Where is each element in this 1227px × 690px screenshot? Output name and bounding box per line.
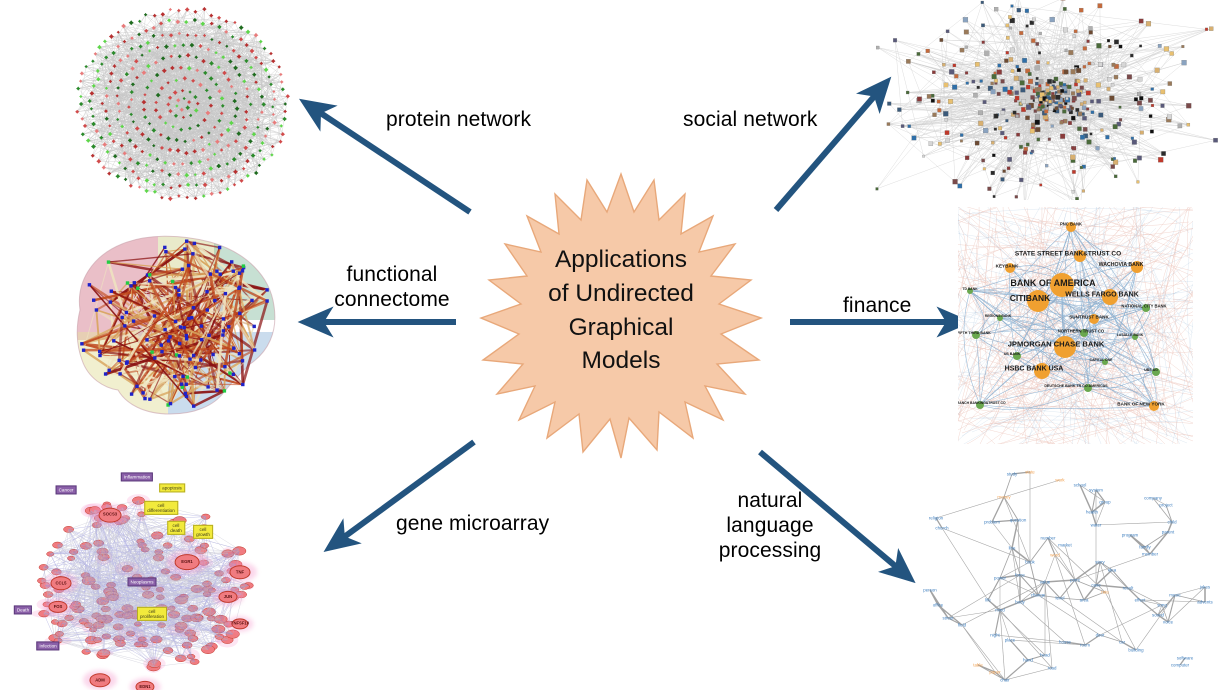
nlp-word-node: night	[990, 633, 1000, 638]
nlp-word-node: school	[1074, 483, 1087, 488]
finance-node-label: CITIBANK	[1010, 293, 1051, 303]
nlp-word-node: project	[1159, 503, 1172, 508]
nlp-word-node: study	[1007, 472, 1018, 477]
nlp-word-node: door	[1096, 633, 1105, 638]
nlp-word-node: road	[1048, 666, 1057, 671]
nlp-word-node: book	[1025, 560, 1035, 565]
finance-node-label: HSBC BANK USA	[1005, 366, 1064, 373]
finance-node-label: NATIONAL CITY BANK	[1121, 304, 1166, 309]
nlp-word-node: church	[935, 526, 948, 531]
nlp-word-node: number	[1041, 536, 1056, 541]
finance-node-label: TD BANK	[962, 287, 977, 291]
nlp-word-node: street	[943, 616, 954, 621]
diagram-canvas: Applications of Undirected Graphical Mod…	[0, 0, 1227, 690]
finance-node-label: KEYBANK	[996, 264, 1019, 269]
finance-node-label: DEUTSCHE BANK TR CO AMERICAS	[1044, 384, 1107, 388]
label-gene-microarray: gene microarray	[396, 512, 549, 537]
gene-node: EDN1	[135, 681, 154, 690]
nlp-word-node: building	[1128, 648, 1143, 653]
thumbnail-natural-language-processing: studystatemoneyworkschoolsystemhealthgro…	[900, 450, 1227, 690]
nlp-word-node: power	[994, 576, 1006, 581]
nlp-word-node: room	[1080, 643, 1090, 648]
nlp-word-node: money	[997, 495, 1010, 500]
nlp-word-node: family	[1139, 545, 1150, 550]
thumbnail-social-network	[862, 0, 1227, 200]
nlp-word-node: point	[1070, 578, 1080, 583]
thumbnail-functional-connectome	[18, 212, 313, 430]
nlp-word-node: paper	[989, 670, 1000, 675]
nlp-word-node: force	[1015, 573, 1025, 578]
finance-node-label: JPMORGAN CHASE BANK	[1008, 340, 1105, 349]
finance-node-label: CAPITAL ONE	[1090, 358, 1113, 362]
nlp-word-node: question	[1010, 518, 1027, 523]
thumbnail-protein-network	[58, 0, 308, 208]
nlp-word-node: person	[923, 588, 936, 593]
label-social-network: social network	[683, 108, 817, 133]
nlp-word-node: field	[958, 623, 966, 628]
nlp-word-node: voice	[1163, 620, 1173, 625]
nlp-word-node: sound	[1152, 613, 1164, 618]
finance-node-label: REGIONS BANK	[985, 314, 1011, 318]
nlp-word-node: song	[1157, 603, 1167, 608]
finance-node-label: NORTHERN TRUST CO	[1058, 329, 1104, 334]
nlp-word-node: water	[1091, 523, 1102, 528]
nlp-word-node: area	[1080, 598, 1089, 603]
finance-node-label: BANK OF NEW YORK	[1117, 402, 1164, 407]
nlp-word-node: member	[1142, 552, 1158, 557]
nlp-word-node: life	[985, 598, 991, 603]
finance-node-label: WELLS FARGO BANK	[1065, 292, 1139, 299]
nlp-word-node: advents	[1197, 600, 1212, 605]
label-natural-language-processing: natural language processing	[718, 489, 822, 563]
nlp-word-node: computer	[1171, 663, 1189, 668]
nlp-word-node: word	[1050, 553, 1060, 558]
finance-node-label: SUNTRUST BANK	[1069, 315, 1109, 320]
nlp-word-node: software	[1177, 656, 1194, 661]
finance-node-label: US BANK	[1004, 352, 1020, 356]
nlp-word-node: line	[1009, 546, 1016, 551]
nlp-word-node: level	[1055, 596, 1064, 601]
nlp-word-node: body	[1015, 600, 1025, 605]
gene-node: ADM	[90, 673, 111, 687]
nlp-word-node: music	[1169, 593, 1180, 598]
nlp-word-node: head	[1040, 653, 1050, 658]
nlp-word-node: rate	[1101, 590, 1109, 595]
finance-node-label: WACHOVIA BANK	[1099, 262, 1144, 268]
finance-node-label: FIFTH THIRD BANK	[958, 331, 991, 335]
nlp-word-node: market	[1058, 543, 1071, 548]
nlp-word-node: religion	[929, 516, 943, 521]
nlp-word-node: hand	[1023, 658, 1033, 663]
label-finance: finance	[843, 294, 911, 319]
nlp-word-node: car	[1119, 640, 1125, 645]
finance-node-label: BRANCH BANKING&TRUST CO	[958, 401, 1006, 405]
finance-node-label: UBS AG	[1144, 368, 1158, 372]
center-label: Applications of Undirected Graphical Mod…	[505, 243, 737, 378]
gene-node: CCL5	[51, 576, 72, 590]
finance-node-label: STATE STREET BANK&TRUST CO	[1015, 251, 1121, 258]
label-protein-network: protein network	[386, 108, 531, 133]
finance-node-label: PNC BANK	[1060, 222, 1082, 227]
nlp-word-node: value	[1040, 580, 1051, 585]
nlp-word-node: place	[1005, 638, 1016, 643]
nlp-word-node: parent	[1162, 530, 1174, 535]
nlp-word-node: table	[973, 663, 983, 668]
nlp-word-node: chair	[1000, 678, 1010, 683]
nlp-word-node: change	[1031, 593, 1045, 598]
nlp-word-node: program	[1122, 533, 1138, 538]
nlp-word-node: case	[1091, 583, 1100, 588]
nlp-word-node: jokes	[1200, 585, 1210, 590]
nlp-word-node: health	[1086, 510, 1098, 515]
nlp-word-node: mind	[995, 608, 1005, 613]
gene-node: TNF	[230, 565, 251, 579]
nlp-word-node: idea	[1108, 568, 1116, 573]
nlp-word-node: system	[1089, 488, 1103, 493]
nlp-word-node: problem	[984, 520, 1000, 525]
nlp-word-node: company	[1144, 496, 1162, 501]
nlp-word-node: house	[1059, 640, 1071, 645]
finance-node-label: LASALLE BANK	[1117, 333, 1143, 337]
nlp-word-node: group	[1099, 500, 1110, 505]
gene-node: SOCS3	[99, 508, 122, 523]
gene-node: EGR1	[175, 554, 200, 570]
nlp-word-node: child	[1167, 520, 1176, 525]
thumbnail-finance: PNC BANKSTATE STREET BANK&TRUST COWACHOV…	[958, 207, 1193, 444]
nlp-word-node: result	[1123, 586, 1134, 591]
nlp-word-node: effect	[1135, 598, 1146, 603]
thumbnail-gene-microarray: CancerInflammationapoptosiscell differen…	[0, 452, 300, 690]
nlp-word-node: story	[1095, 560, 1105, 565]
nlp-word-node: office	[933, 603, 943, 608]
label-functional-connectome: functional connectome	[330, 263, 454, 313]
nlp-word-node: state	[1025, 470, 1035, 475]
nlp-word-node: work	[1055, 478, 1064, 483]
finance-node-label: BANK OF AMERICA	[1010, 278, 1095, 288]
